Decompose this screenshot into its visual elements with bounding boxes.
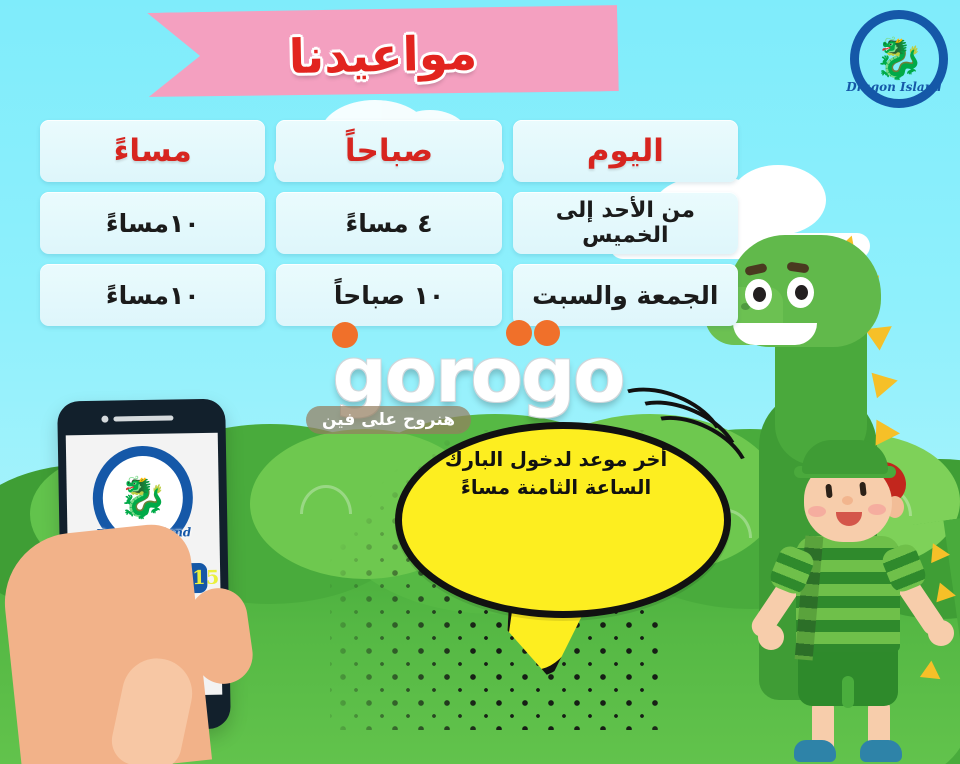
table-row: من الأحد إلى الخميس ٤ مساءً ١٠مساءً [40,192,738,254]
header-evening-label: مساءً [114,133,192,169]
brand-name: Dragon Island [842,80,946,94]
boy-hand [758,624,784,650]
row1-morning: ٤ مساءً [345,209,432,238]
row2-day: الجمعة والسبت [532,281,718,310]
dragon-brow [744,263,767,276]
header-morning-label: صباحاً [345,133,433,169]
boy-cheek [868,504,886,515]
header-cell-morning: صباحاً [276,120,501,182]
row1-evening: ١٠مساءً [106,209,200,238]
hand-holding-phone [10,470,260,764]
cell-day: الجمعة والسبت [513,264,738,326]
dragon-brow [786,262,809,274]
table-header-row: اليوم صباحاً مساءً [40,120,738,182]
boy-cheek [808,506,826,517]
schedule-table: اليوم صباحاً مساءً من الأحد إلى الخميس ٤… [40,120,738,326]
boy-character [760,440,960,764]
header-cell-day: اليوم [513,120,738,182]
notice-text: أخر موعد لدخول البارك الساعة الثامنة مسا… [413,446,699,503]
notice-line-1: أخر موعد لدخول البارك [413,446,699,474]
phone-speaker [113,415,173,421]
speech-bubble: أخر موعد لدخول البارك الساعة الثامنة مسا… [395,400,725,660]
header-day-label: اليوم [587,133,664,169]
row2-morning: ١٠ صباحاً [334,281,444,310]
cell-evening: ١٠مساءً [40,192,265,254]
boy-shoe [794,740,836,762]
dragon-head [729,235,881,347]
boy-nose [842,496,853,505]
table-row: الجمعة والسبت ١٠ صباحاً ١٠مساءً [40,264,738,326]
dragon-spike [872,368,901,398]
boy-hat [802,440,888,474]
boy-hand [928,620,954,646]
speech-bubble-joint [507,568,577,598]
brand-logo: 🐉 Dragon Island [842,8,950,112]
cell-day: من الأحد إلى الخميس [513,192,738,254]
cell-morning: ٤ مساءً [276,192,501,254]
phone-camera-icon [101,416,108,423]
dragon-mouth [733,323,817,345]
row2-evening: ١٠مساءً [106,281,200,310]
header-cell-evening: مساءً [40,120,265,182]
poster-canvas: أخر موعد لدخول البارك الساعة الثامنة مسا… [0,0,960,764]
boy-shorts-gap [842,676,854,708]
row1-day: من الأحد إلى الخميس [513,198,738,248]
boy-shoe [860,740,902,762]
page-title: مواعيدنا [147,9,619,101]
cell-morning: ١٠ صباحاً [276,264,501,326]
notice-line-2: الساعة الثامنة مساءً [413,474,699,502]
dragon-pupil [753,287,766,302]
dragon-pupil [795,285,808,300]
title-banner: مواعيدنا [148,8,618,106]
dragon-icon: 🐉 [874,39,924,79]
cell-evening: ١٠مساءً [40,264,265,326]
